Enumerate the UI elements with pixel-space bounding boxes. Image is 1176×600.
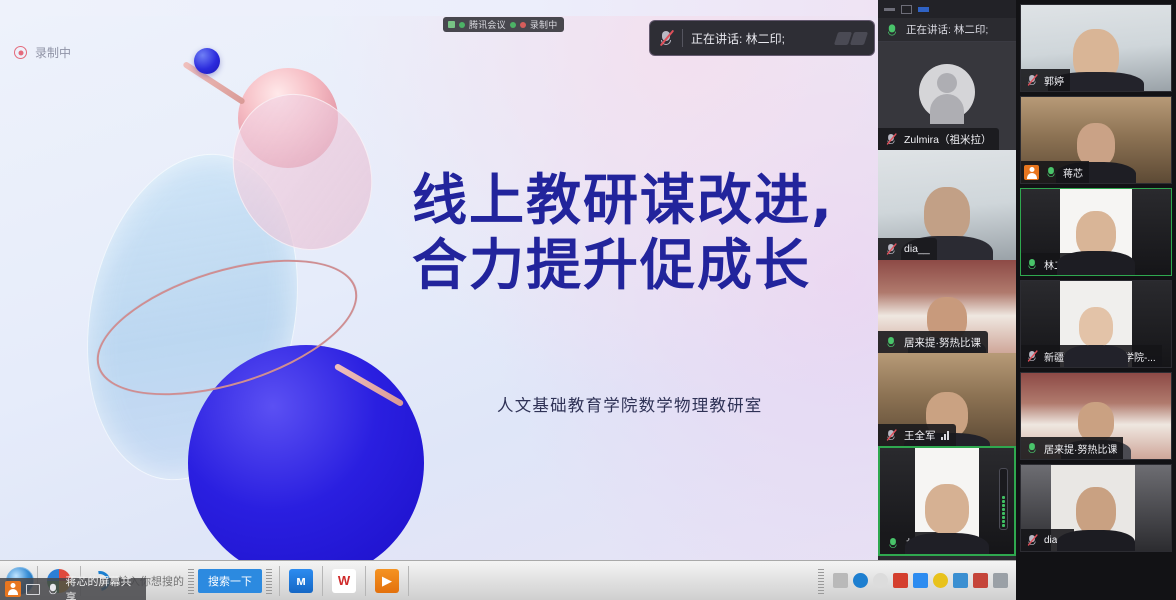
toolbar-grip-2[interactable]: [266, 568, 272, 594]
participant-name: 王全军: [904, 428, 936, 443]
slide-title: 线上教研谋改进, 合力提升促成长: [412, 168, 878, 298]
participant-name: 居来提·努热比课: [904, 335, 981, 350]
mic-muted-icon[interactable]: [658, 29, 674, 47]
status-dot-green: [459, 22, 465, 28]
screen-share-label: 蒋芯的屏幕共享: [65, 573, 141, 600]
host-badge: [5, 581, 21, 597]
participant-sidebar-right[interactable]: 郭婷 蒋芯: [1016, 0, 1176, 600]
slide-artwork: [30, 40, 460, 530]
avatar: [919, 64, 975, 120]
mic-muted-icon: [1026, 74, 1038, 87]
participant-tile[interactable]: dia__: [878, 150, 1016, 260]
mic-icon: [1026, 442, 1038, 455]
mic-muted-icon: [1026, 534, 1038, 547]
video-player-icon[interactable]: ▶: [369, 564, 405, 598]
maximize-button[interactable]: [901, 5, 912, 14]
windows-taskbar[interactable]: 输入你想搜的 搜索一下 ᴍ W ▶: [0, 560, 1016, 600]
wps-icon[interactable]: W: [326, 564, 362, 598]
speaking-now-label: 正在讲话: 林二印;: [691, 30, 785, 47]
shared-screen-area: 腾讯会议 录制中 录制中 线上教研谋改进, 合力提升促成长 人文基础教育学院数学…: [0, 0, 878, 560]
floating-speaking-toolbar[interactable]: 正在讲话: 林二印;: [649, 20, 875, 56]
mic-icon[interactable]: [47, 582, 59, 596]
participant-tile[interactable]: dia__: [1020, 464, 1172, 552]
volume-icon[interactable]: [973, 573, 988, 588]
mic-icon: [886, 22, 899, 36]
recording-badge-label: 录制中: [530, 18, 558, 31]
participant-tile[interactable]: 郭婷: [1020, 4, 1172, 92]
participant-tile[interactable]: 新疆交通职业技术学院-...: [1020, 280, 1172, 368]
update-icon[interactable]: [933, 573, 948, 588]
mic-icon: [887, 537, 899, 550]
mic-icon: [1026, 258, 1038, 271]
sogou-icon[interactable]: ᴍ: [283, 564, 319, 598]
tencent-meeting-badge: 腾讯会议 录制中: [443, 17, 564, 32]
slide-subtitle: 人文基础教育学院数学物理教研室: [497, 392, 763, 416]
participant-namebar: dia__: [878, 238, 937, 260]
status-dot-green-2: [510, 22, 516, 28]
mic-muted-icon: [885, 133, 897, 146]
middle-speaking-banner: 正在讲话: 林二印;: [878, 18, 1016, 42]
participant-namebar: 居来提·努热比课: [1021, 437, 1123, 459]
screen-root: 腾讯会议 录制中 录制中 线上教研谋改进, 合力提升促成长 人文基础教育学院数学…: [0, 0, 1176, 600]
middle-speaking-label: 正在讲话: 林二印;: [906, 22, 988, 37]
signal-icon: [941, 431, 949, 440]
mic-icon: [885, 336, 897, 349]
sogou-tray-icon[interactable]: [913, 573, 928, 588]
chevrons-icon[interactable]: [836, 32, 866, 45]
participant-tile-active[interactable]: 林二印: [878, 446, 1016, 556]
toolbar-grip[interactable]: [188, 568, 194, 594]
mic-muted-icon: [1026, 350, 1038, 363]
participant-tile[interactable]: 居来提·努热比课: [1020, 372, 1172, 460]
participant-tile-active[interactable]: 林二印: [1020, 188, 1172, 276]
participant-name: 蒋芯: [1063, 165, 1083, 180]
antivirus-icon[interactable]: [953, 573, 968, 588]
system-tray[interactable]: [814, 568, 1016, 594]
participant-tile[interactable]: 蒋芯: [1020, 96, 1172, 184]
wps-tray-icon[interactable]: [893, 573, 908, 588]
search-button[interactable]: 搜索一下: [198, 569, 262, 593]
help-icon[interactable]: [853, 573, 868, 588]
participant-name: 居来提·努热比课: [1044, 441, 1117, 456]
screen-share-bar[interactable]: 蒋芯的屏幕共享: [0, 578, 146, 600]
participant-name: dia__: [904, 243, 930, 255]
record-icon: [14, 46, 27, 59]
participant-namebar: 郭婷: [1021, 69, 1070, 91]
recording-dot: [520, 22, 526, 28]
participant-column-middle[interactable]: 正在讲话: 林二印; Zulmira（祖米拉） dia__: [878, 0, 1016, 582]
monitor-icon[interactable]: [26, 584, 40, 595]
participant-name: 郭婷: [1044, 73, 1064, 88]
participant-name: Zulmira（祖米拉）: [904, 132, 992, 147]
cloud-icon[interactable]: [873, 573, 888, 588]
participant-tile[interactable]: 王全军: [878, 353, 1016, 446]
shared-screen-top-strip: [0, 0, 878, 16]
window-controls[interactable]: [878, 0, 1016, 18]
audio-level-meter: [999, 468, 1008, 530]
participant-namebar: Zulmira（祖米拉）: [878, 128, 999, 150]
mic-icon: [1045, 166, 1057, 179]
search-button-label: 搜索一下: [208, 573, 252, 589]
host-badge: [1024, 165, 1039, 180]
toolbar-divider: [682, 29, 683, 47]
mic-muted-icon: [885, 429, 897, 442]
meeting-badge-label: 腾讯会议: [469, 18, 506, 31]
screenshare-icon: [448, 21, 455, 28]
menu-button[interactable]: [918, 7, 929, 12]
participant-tile[interactable]: 居来提·努热比课: [878, 260, 1016, 353]
mic-muted-icon: [885, 243, 897, 256]
blue-small-sphere-shape: [194, 48, 220, 74]
network-icon[interactable]: [993, 573, 1008, 588]
participant-namebar: 王全军: [878, 424, 956, 446]
printer-icon[interactable]: [833, 573, 848, 588]
participant-tile[interactable]: Zulmira（祖米拉）: [878, 42, 1016, 150]
tray-grip[interactable]: [818, 568, 824, 594]
minimize-button[interactable]: [884, 8, 895, 11]
participant-namebar: 居来提·努热比课: [878, 331, 988, 353]
participant-namebar: 蒋芯: [1021, 161, 1089, 183]
